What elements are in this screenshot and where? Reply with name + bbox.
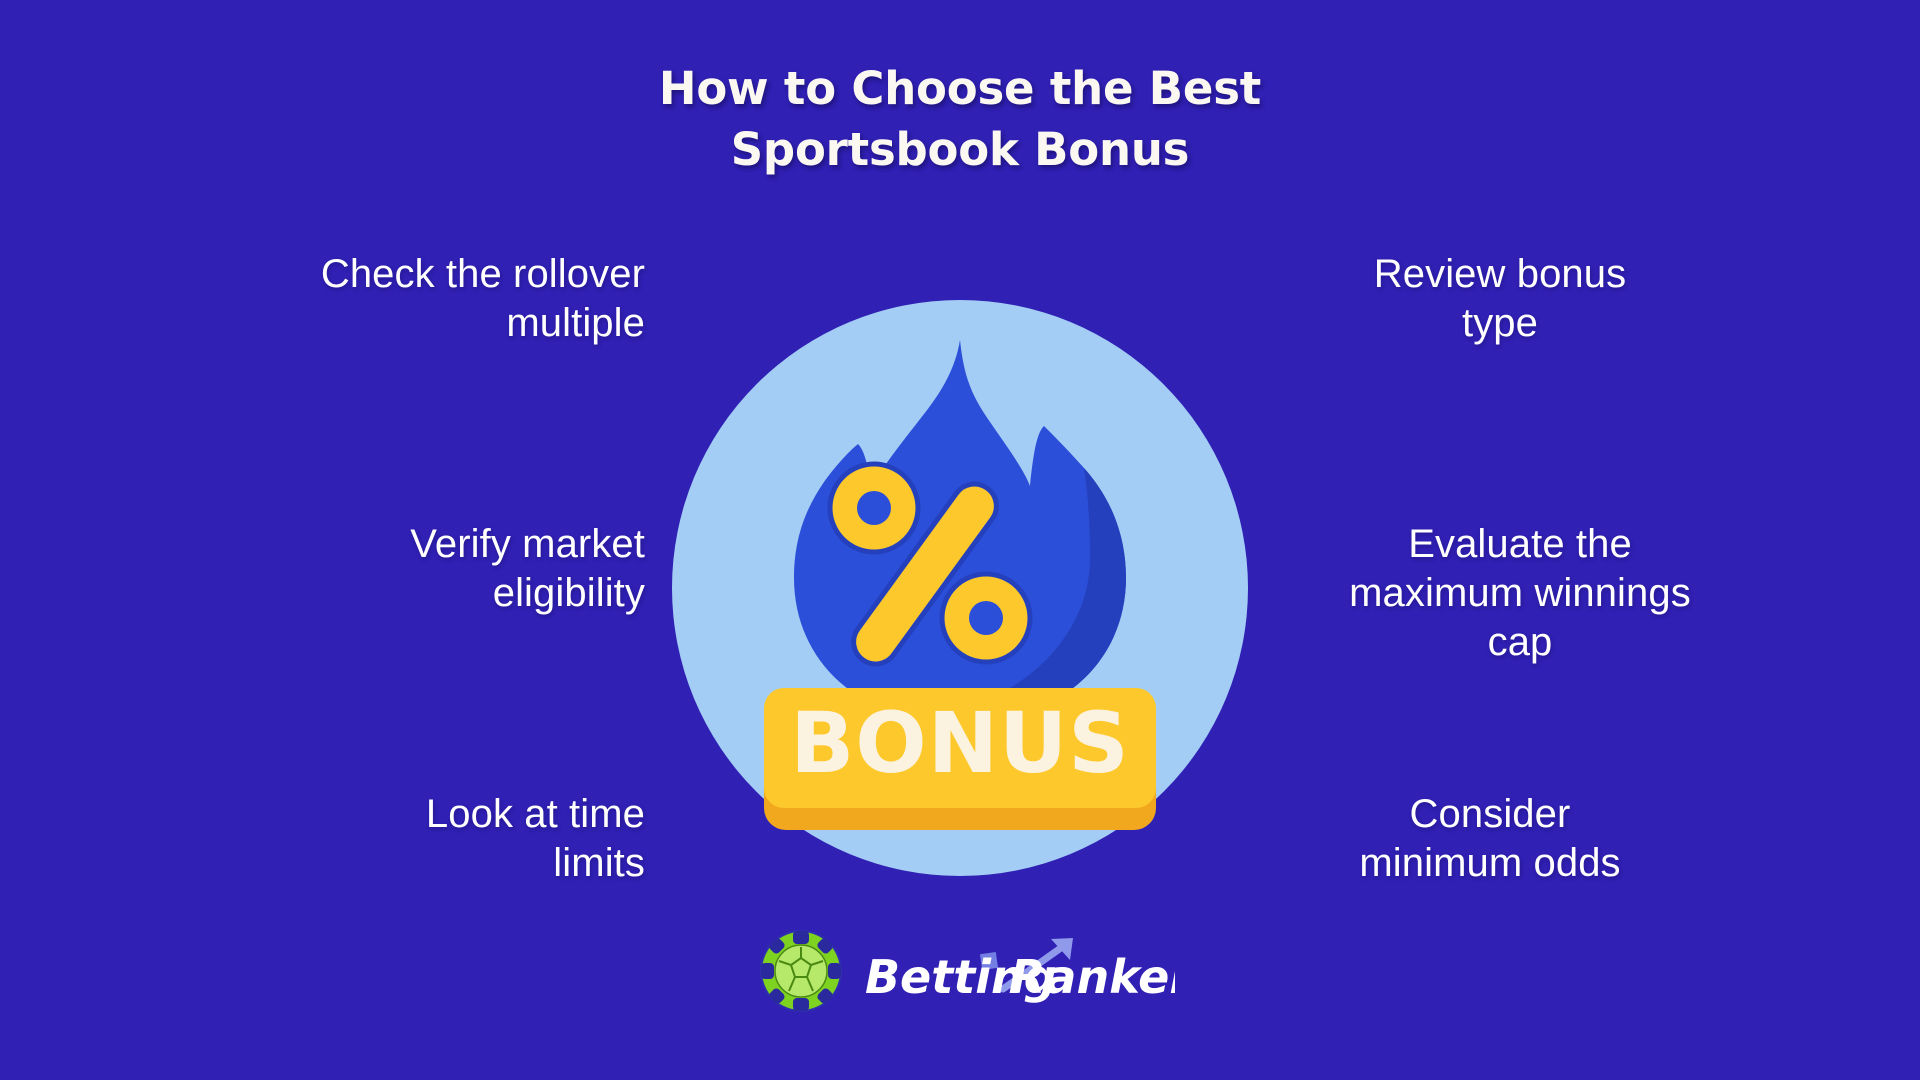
tip-bonus-type-line-1: Review bonus (1290, 250, 1710, 299)
tip-rollover-line-2: multiple (120, 299, 645, 348)
tip-bonus-type-line-2: type (1290, 299, 1710, 348)
tip-label-rollover: Check the rollover multiple (120, 250, 645, 348)
tip-rollover-line-1: Check the rollover (120, 250, 645, 299)
brand-logo: Betting Ranker (755, 925, 1175, 1017)
tip-label-bonus-type: Review bonus type (1290, 250, 1710, 348)
flame-bonus-icon: BONUS (672, 300, 1248, 876)
tip-winnings-cap-line-1: Evaluate the (1280, 520, 1760, 569)
page-title: How to Choose the Best Sportsbook Bonus (0, 58, 1920, 180)
tip-winnings-cap-line-3: cap (1280, 618, 1760, 667)
tip-minimum-odds-line-2: minimum odds (1240, 839, 1740, 888)
soccer-chip-icon (761, 931, 841, 1011)
tip-label-eligibility: Verify market eligibility (120, 520, 645, 618)
tip-label-winnings-cap: Evaluate the maximum winnings cap (1280, 520, 1760, 668)
tip-time-limits-line-2: limits (120, 839, 645, 888)
tip-label-minimum-odds: Consider minimum odds (1240, 790, 1740, 888)
infographic-canvas: How to Choose the Best Sportsbook Bonus … (0, 0, 1920, 1080)
title-line-1: How to Choose the Best (0, 58, 1920, 119)
bonus-banner-label: BONUS (790, 694, 1129, 792)
tip-time-limits-line-1: Look at time (120, 790, 645, 839)
tip-minimum-odds-line-1: Consider (1240, 790, 1740, 839)
tip-eligibility-line-2: eligibility (120, 569, 645, 618)
title-line-2: Sportsbook Bonus (0, 119, 1920, 180)
tip-label-time-limits: Look at time limits (120, 790, 645, 888)
tip-winnings-cap-line-2: maximum winnings (1280, 569, 1760, 618)
logo-wordmark-part2: Ranker (1010, 950, 1175, 1004)
tip-eligibility-line-1: Verify market (120, 520, 645, 569)
